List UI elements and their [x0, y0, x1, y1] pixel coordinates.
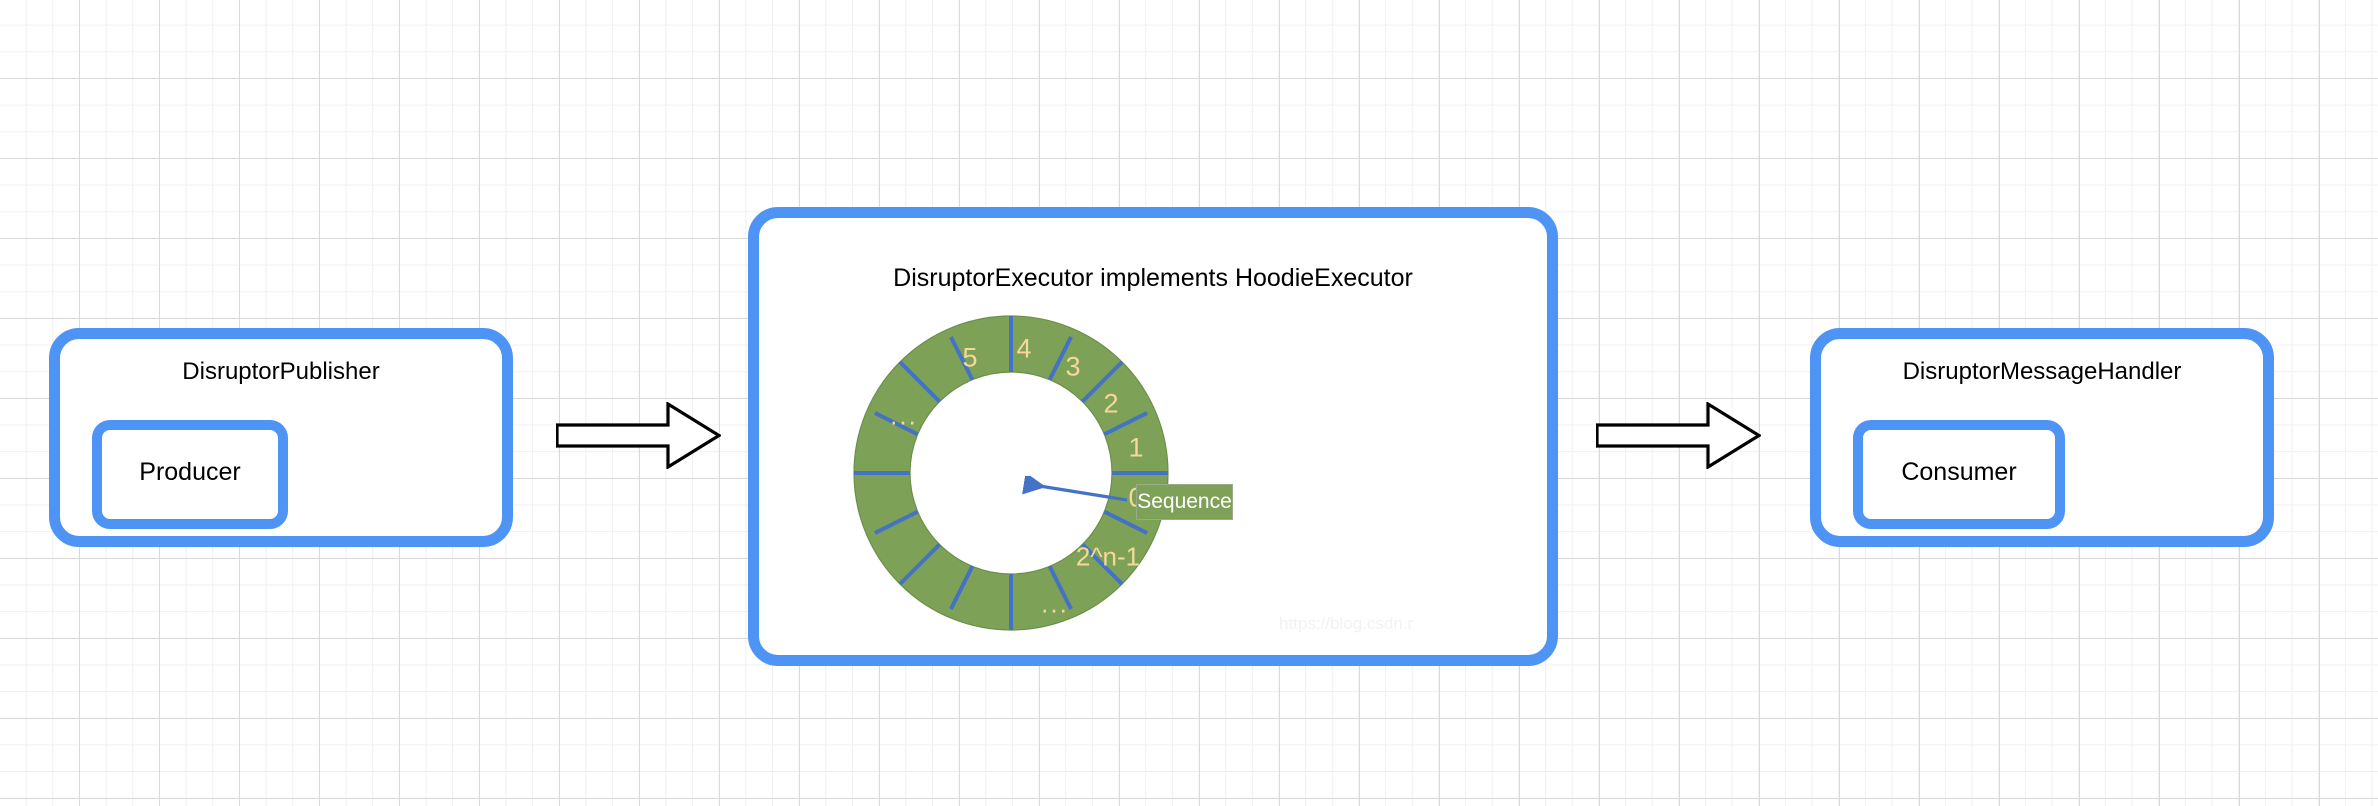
diagram-canvas: DisruptorPublisher Producer DisruptorExe…	[0, 0, 2378, 806]
sequence-pointer-line	[1027, 484, 1127, 500]
sequence-pointer-arrow	[1019, 476, 1129, 516]
disruptor-executor-title: DisruptorExecutor implements HoodieExecu…	[759, 264, 1547, 292]
disruptor-message-handler-box[interactable]: DisruptorMessageHandler Consumer	[1810, 328, 2274, 547]
ring-buffer: 0 1 2 3 4 5 ... 2^n-1 ...	[842, 304, 1180, 642]
sequence-label: Sequence	[1137, 490, 1232, 514]
producer-label: Producer	[102, 458, 278, 486]
flow-arrow-executor-to-handler	[1596, 402, 1761, 469]
disruptor-publisher-title: DisruptorPublisher	[60, 358, 502, 386]
consumer-box[interactable]: Consumer	[1853, 420, 2065, 529]
consumer-label: Consumer	[1863, 458, 2055, 486]
ring-buffer-svg	[842, 304, 1180, 642]
flow-arrow-publisher-to-executor	[556, 402, 721, 469]
disruptor-message-handler-title: DisruptorMessageHandler	[1821, 358, 2263, 386]
disruptor-executor-box[interactable]: DisruptorExecutor implements HoodieExecu…	[748, 207, 1558, 666]
producer-box[interactable]: Producer	[92, 420, 288, 529]
watermark-text: https://blog.csdn.r	[1279, 614, 1413, 634]
sequence-box[interactable]: Sequence	[1136, 484, 1233, 520]
block-arrow-shape	[557, 404, 719, 467]
disruptor-publisher-box[interactable]: DisruptorPublisher Producer	[49, 328, 513, 547]
block-arrow-shape	[1597, 404, 1759, 467]
